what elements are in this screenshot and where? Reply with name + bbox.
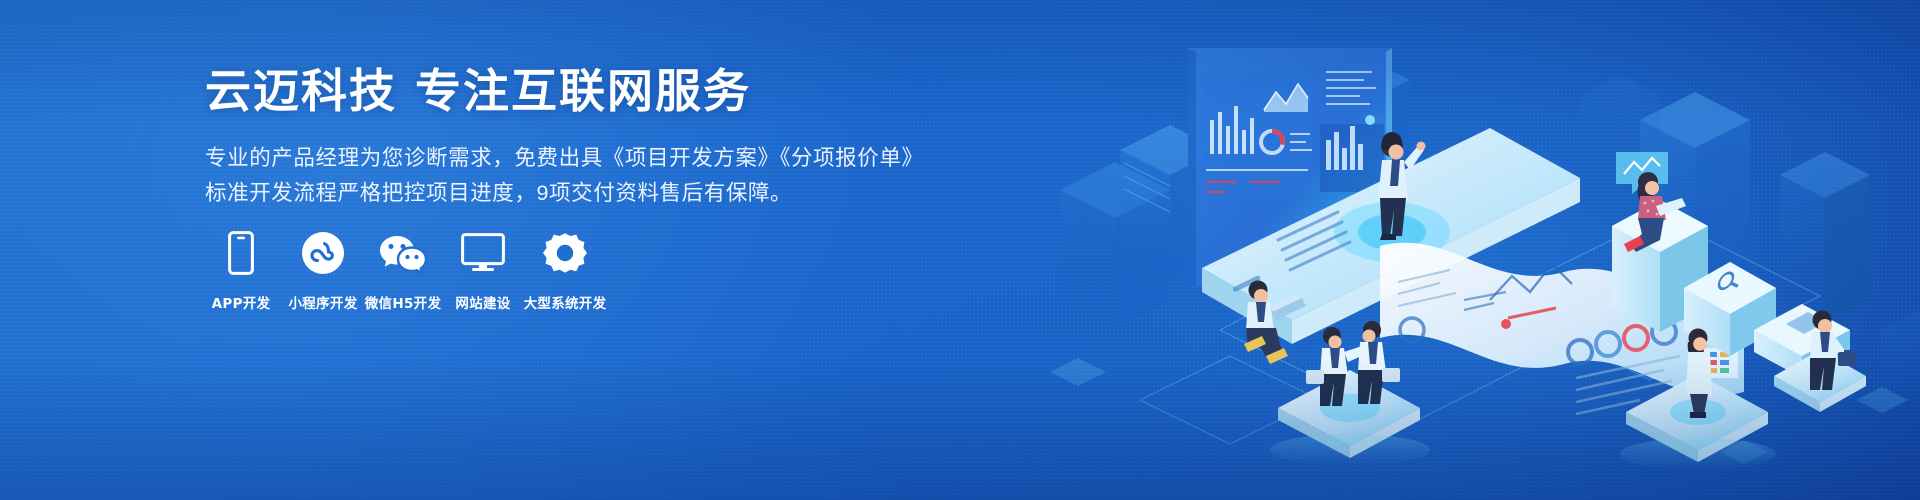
service-label: 微信H5开发 — [365, 292, 442, 312]
service-item-app[interactable]: APP开发 — [205, 230, 277, 312]
service-item-mini-program[interactable]: 小程序开发 — [287, 230, 359, 312]
subtitle-line-2: 标准开发流程严格把控项目进度，9项交付资料售后有保障。 — [205, 176, 925, 211]
monitor-icon — [461, 230, 505, 276]
service-item-website[interactable]: 网站建设 — [447, 230, 519, 312]
page-title: 云迈科技 专注互联网服务 — [205, 64, 925, 119]
service-label: 小程序开发 — [289, 292, 358, 312]
gear-icon — [543, 230, 587, 276]
mini-program-icon — [301, 230, 345, 276]
service-label: APP开发 — [212, 292, 271, 312]
subtitle-line-1: 专业的产品经理为您诊断需求，免费出具《项目开发方案》《分项报价单》 — [205, 141, 925, 176]
mobile-phone-icon — [228, 230, 254, 276]
service-list: APP开发 小程序开发 — [205, 230, 601, 312]
banner-subtitle: 专业的产品经理为您诊断需求，免费出具《项目开发方案》《分项报价单》 标准开发流程… — [205, 141, 925, 211]
hero-banner: 云迈科技 专注互联网服务 专业的产品经理为您诊断需求，免费出具《项目开发方案》《… — [0, 0, 1920, 500]
service-label: 网站建设 — [455, 292, 510, 312]
wechat-icon — [378, 230, 428, 276]
service-item-wechat-h5[interactable]: 微信H5开发 — [367, 230, 439, 312]
service-item-large-system[interactable]: 大型系统开发 — [529, 230, 601, 312]
service-label: 大型系统开发 — [524, 292, 607, 312]
illustration-isometric-team-analytics — [1020, 0, 1920, 500]
banner-copy: 云迈科技 专注互联网服务 专业的产品经理为您诊断需求，免费出具《项目开发方案》《… — [205, 64, 925, 211]
